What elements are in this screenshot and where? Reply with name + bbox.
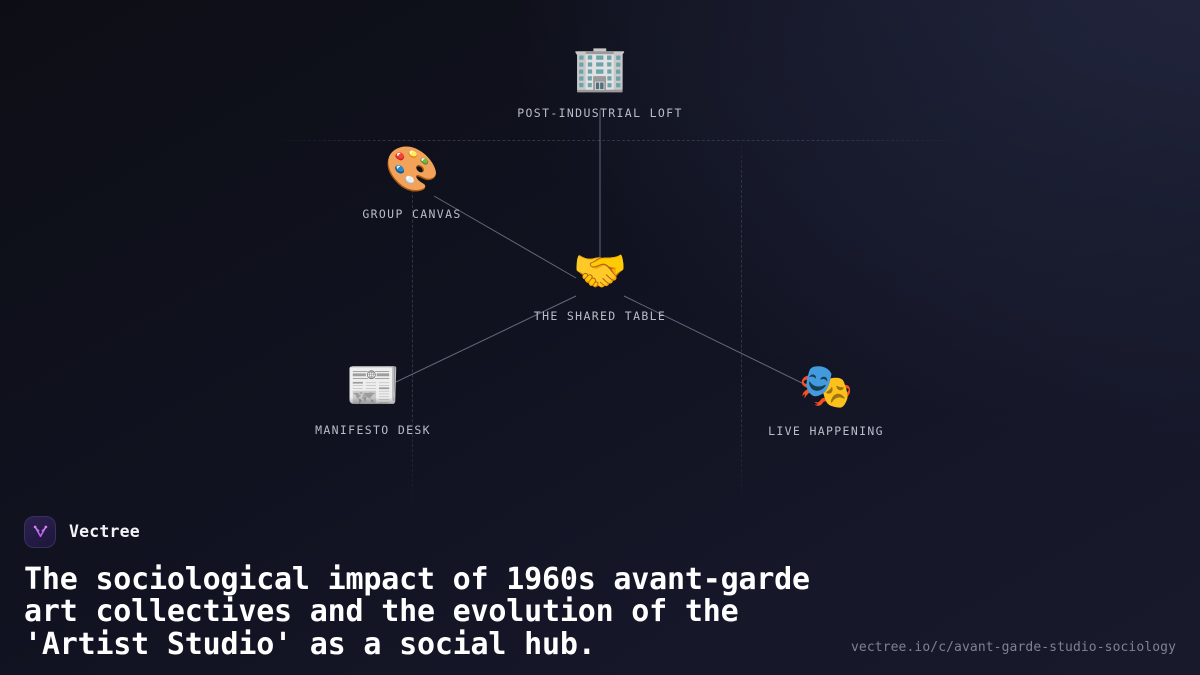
- brand-name: Vectree: [69, 522, 140, 541]
- diagram-node-happening[interactable]: 🎭LIVE HAPPENING: [696, 362, 956, 438]
- vectree-branch-icon: [24, 516, 56, 548]
- node-label-manifesto: MANIFESTO DESK: [315, 423, 431, 437]
- handshake-icon: 🤝: [573, 247, 628, 297]
- diagram-node-manifesto[interactable]: 📰MANIFESTO DESK: [243, 361, 503, 437]
- page-title: The sociological impact of 1960s avant-g…: [24, 564, 869, 661]
- node-label-hub: THE SHARED TABLE: [534, 309, 666, 323]
- artist-palette-icon: 🎨: [385, 145, 440, 195]
- node-label-canvas: GROUP CANVAS: [362, 207, 461, 221]
- brand-block: Vectree: [24, 516, 1176, 548]
- performing-arts-icon: 🎭: [799, 362, 854, 412]
- share-url: vectree.io/c/avant-garde-studio-sociolog…: [851, 640, 1176, 655]
- node-label-loft: POST-INDUSTRIAL LOFT: [517, 106, 682, 120]
- diagram-node-canvas[interactable]: 🎨GROUP CANVAS: [282, 145, 542, 221]
- office-building-icon: 🏢: [573, 44, 628, 94]
- newspaper-icon: 📰: [346, 361, 401, 411]
- node-label-happening: LIVE HAPPENING: [768, 424, 884, 438]
- diagram-node-hub[interactable]: 🤝THE SHARED TABLE: [470, 247, 730, 323]
- diagram-node-loft[interactable]: 🏢POST-INDUSTRIAL LOFT: [470, 44, 730, 120]
- share-card-canvas: 🏢POST-INDUSTRIAL LOFT🎨GROUP CANVAS🤝THE S…: [0, 0, 1200, 675]
